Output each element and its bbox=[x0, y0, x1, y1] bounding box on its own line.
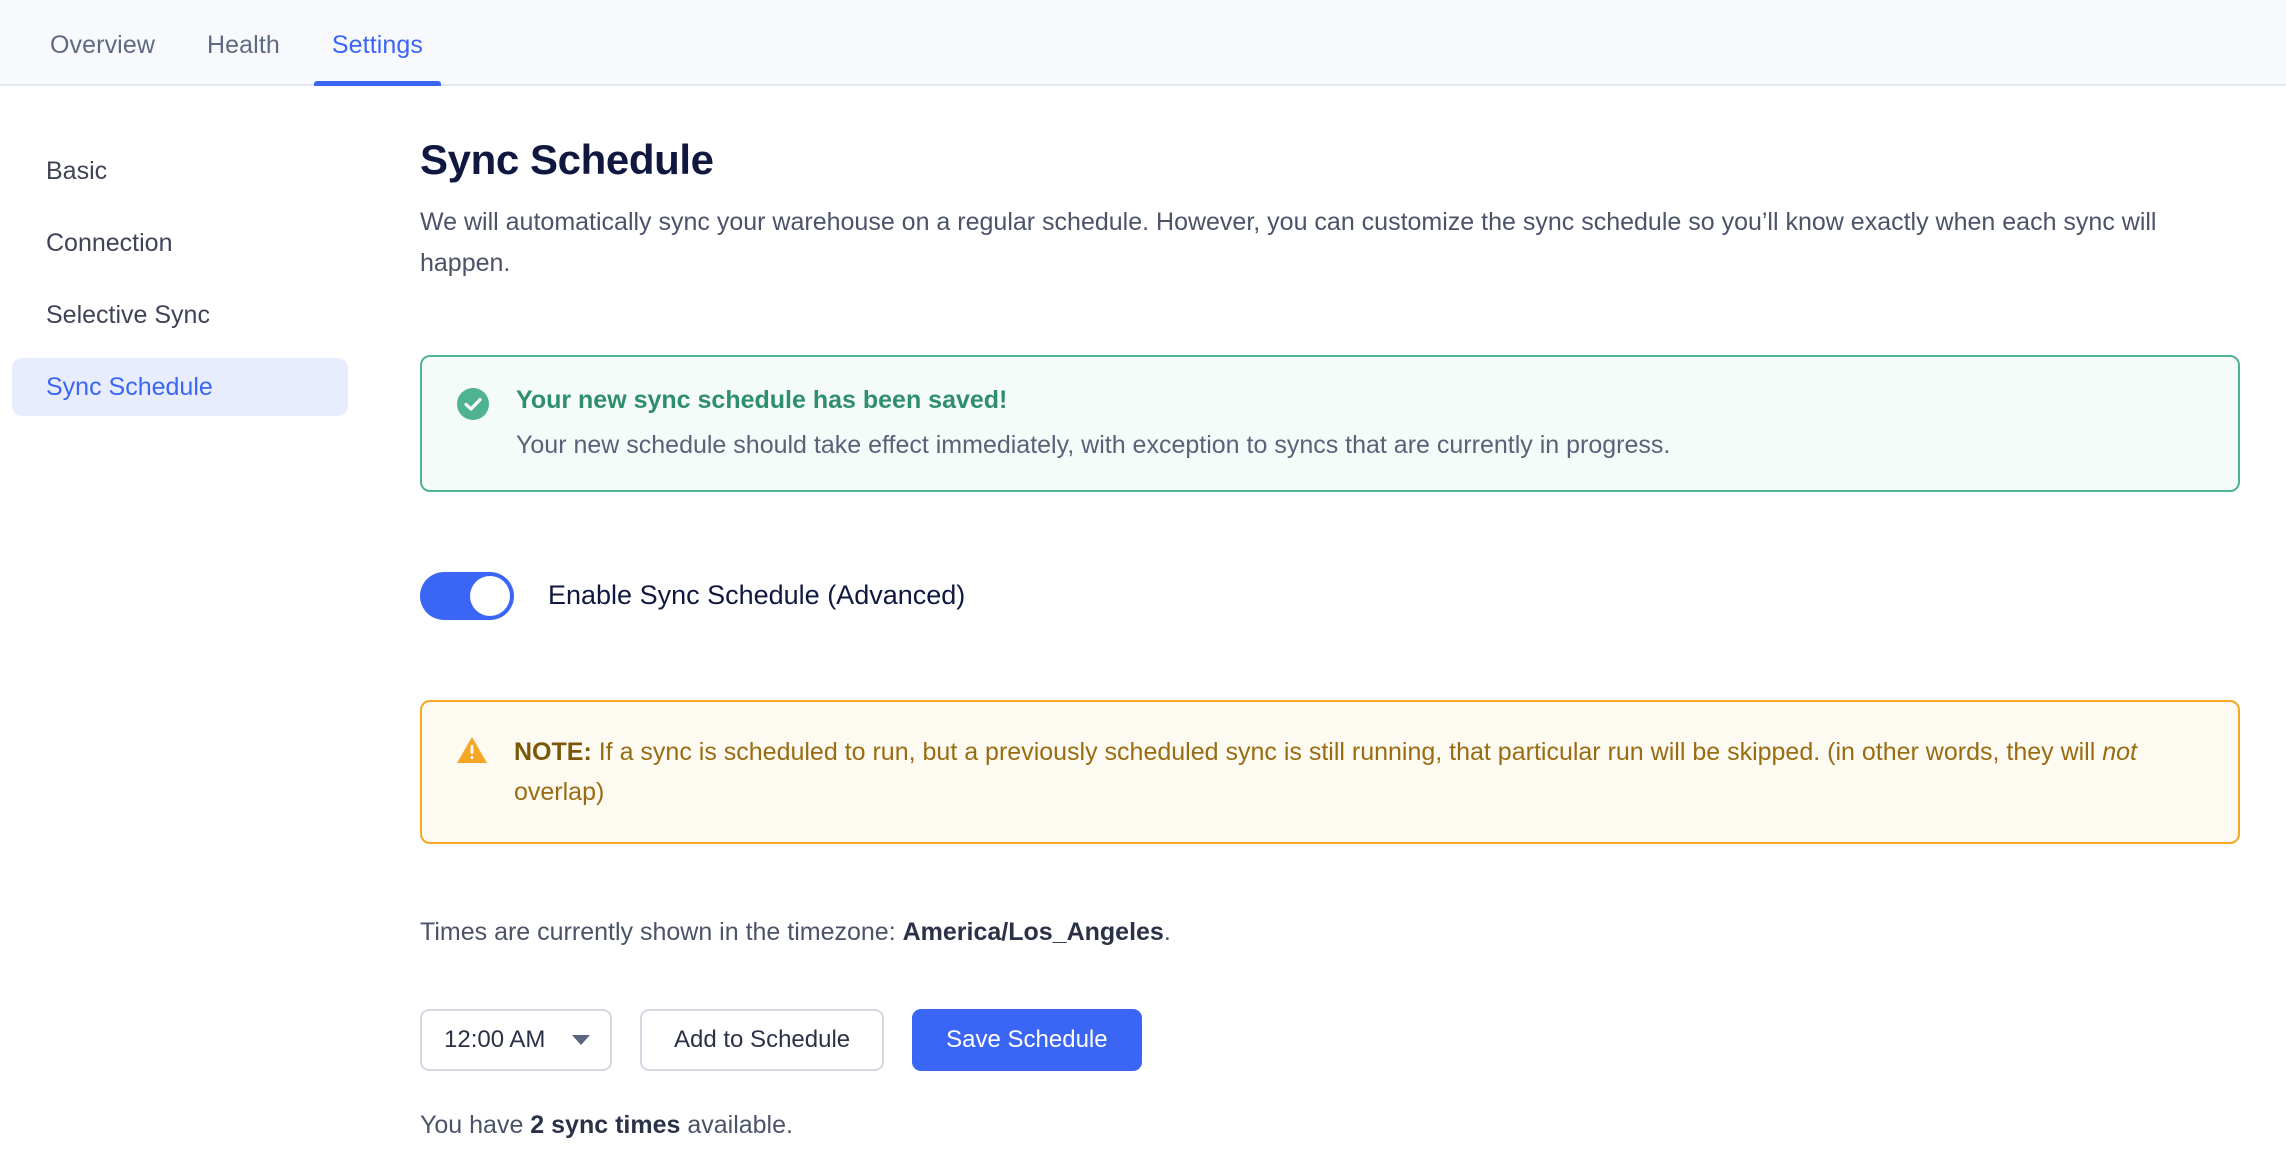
note-banner-emphasis: not bbox=[2102, 738, 2137, 766]
success-banner: Your new sync schedule has been saved! Y… bbox=[420, 355, 2240, 492]
sidebar-item-selective-sync[interactable]: Selective Sync bbox=[12, 286, 348, 344]
note-banner-text: NOTE: If a sync is scheduled to run, but… bbox=[514, 732, 2204, 812]
add-to-schedule-label: Add to Schedule bbox=[674, 1026, 850, 1054]
schedule-controls: 12:00 AM Add to Schedule Save Schedule bbox=[420, 1009, 2246, 1071]
timezone-line: Times are currently shown in the timezon… bbox=[420, 918, 2246, 947]
page-body: Basic Connection Selective Sync Sync Sch… bbox=[0, 86, 2286, 1140]
available-suffix: available. bbox=[680, 1111, 793, 1139]
save-schedule-label: Save Schedule bbox=[946, 1026, 1107, 1054]
chevron-down-icon bbox=[572, 1035, 590, 1045]
success-banner-subtitle: Your new schedule should take effect imm… bbox=[516, 429, 2204, 462]
sidebar-item-basic[interactable]: Basic bbox=[12, 142, 348, 200]
sidebar-item-sync-schedule[interactable]: Sync Schedule bbox=[12, 358, 348, 416]
tab-settings[interactable]: Settings bbox=[314, 33, 441, 84]
enable-sync-schedule-label: Enable Sync Schedule (Advanced) bbox=[548, 580, 965, 611]
page-description: We will automatically sync your warehous… bbox=[420, 202, 2246, 283]
sidebar-item-connection[interactable]: Connection bbox=[12, 214, 348, 272]
sidebar-item-label: Basic bbox=[46, 157, 107, 186]
main-content: Sync Schedule We will automatically sync… bbox=[420, 142, 2286, 1140]
tab-health[interactable]: Health bbox=[189, 33, 298, 84]
available-prefix: You have bbox=[420, 1111, 530, 1139]
save-schedule-button[interactable]: Save Schedule bbox=[912, 1009, 1141, 1071]
page-title: Sync Schedule bbox=[420, 136, 2246, 184]
timezone-value: America/Los_Angeles bbox=[903, 918, 1164, 946]
top-tab-bar: Overview Health Settings bbox=[0, 0, 2286, 86]
sync-times-available-line: You have 2 sync times available. bbox=[420, 1111, 2246, 1140]
toggle-knob bbox=[470, 576, 510, 616]
enable-sync-schedule-toggle[interactable] bbox=[420, 572, 514, 620]
sidebar-item-label: Selective Sync bbox=[46, 301, 210, 330]
check-circle-icon bbox=[456, 387, 490, 426]
success-banner-title: Your new sync schedule has been saved! bbox=[516, 385, 2204, 415]
note-banner-label: NOTE: bbox=[514, 738, 592, 766]
time-select[interactable]: 12:00 AM bbox=[420, 1009, 612, 1071]
timezone-suffix: . bbox=[1164, 918, 1171, 946]
sidebar-item-label: Sync Schedule bbox=[46, 373, 213, 402]
note-banner: NOTE: If a sync is scheduled to run, but… bbox=[420, 700, 2240, 844]
add-to-schedule-button[interactable]: Add to Schedule bbox=[640, 1009, 884, 1071]
warning-triangle-icon bbox=[456, 734, 488, 771]
timezone-prefix: Times are currently shown in the timezon… bbox=[420, 918, 903, 946]
note-banner-text-part-1: If a sync is scheduled to run, but a pre… bbox=[592, 738, 2102, 766]
success-banner-text: Your new sync schedule has been saved! Y… bbox=[516, 385, 2204, 462]
sidebar-item-label: Connection bbox=[46, 229, 172, 258]
available-count: 2 sync times bbox=[530, 1111, 680, 1139]
time-select-value: 12:00 AM bbox=[444, 1026, 545, 1054]
note-banner-text-part-2: overlap) bbox=[514, 778, 604, 806]
settings-sidebar: Basic Connection Selective Sync Sync Sch… bbox=[0, 142, 420, 1140]
tab-overview[interactable]: Overview bbox=[32, 33, 173, 84]
enable-sync-schedule-row: Enable Sync Schedule (Advanced) bbox=[420, 572, 2246, 620]
